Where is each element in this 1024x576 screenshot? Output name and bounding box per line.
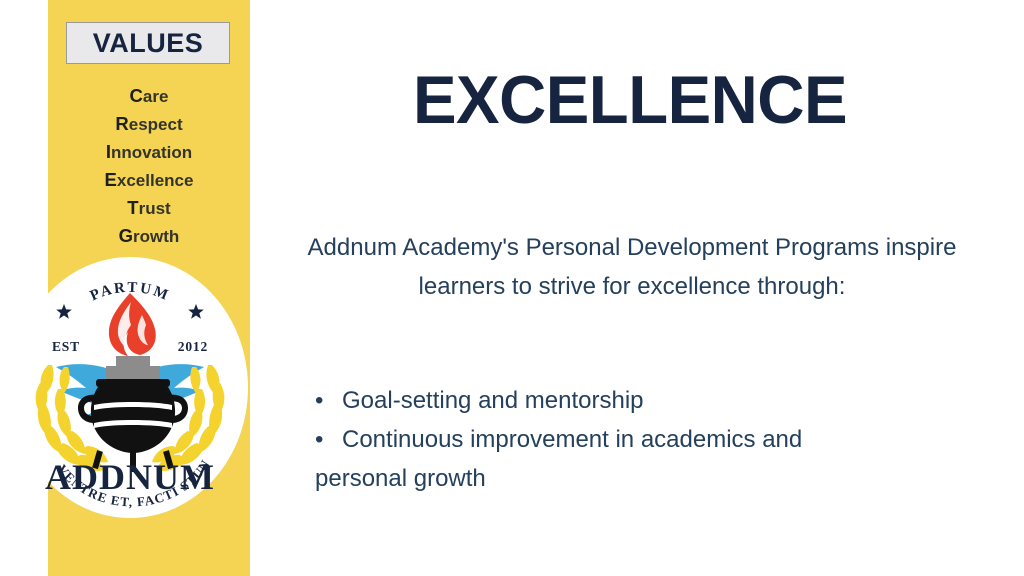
value-initial: G xyxy=(119,225,133,246)
value-remainder: are xyxy=(143,87,169,106)
slide-canvas: VALUES Care Respect Innovation Excellenc… xyxy=(0,0,1024,576)
list-item-wrap-line: personal growth xyxy=(315,459,975,498)
values-list: Care Respect Innovation Excellence Trust… xyxy=(48,82,250,250)
page-title: EXCELLENCE xyxy=(294,66,966,134)
value-remainder: rust xyxy=(139,199,171,218)
value-item-excellence: Excellence xyxy=(48,166,250,194)
values-header-box: VALUES xyxy=(66,22,230,64)
intro-paragraph: Addnum Academy's Personal Development Pr… xyxy=(302,228,962,306)
bullet-marker-icon: • xyxy=(315,381,342,420)
value-remainder: rowth xyxy=(133,227,179,246)
plinth-icon xyxy=(106,356,160,379)
slide-content: EXCELLENCE Addnum Academy's Personal Dev… xyxy=(280,0,1024,576)
list-item-label: Continuous improvement in academics and xyxy=(342,426,802,453)
value-initial: T xyxy=(127,197,138,218)
value-item-trust: Trust xyxy=(48,194,250,222)
star-icon-left xyxy=(56,304,72,319)
value-remainder: nnovation xyxy=(111,143,192,162)
list-item: •Continuous improvement in academics and xyxy=(315,420,975,459)
addnum-logo-artwork: PARTUM EST 2012 xyxy=(12,257,248,518)
value-item-innovation: Innovation xyxy=(48,138,250,166)
value-remainder: xcellence xyxy=(117,171,194,190)
addnum-logo: PARTUM EST 2012 xyxy=(12,257,248,518)
values-header-label: VALUES xyxy=(93,30,204,57)
list-item: •Goal-setting and mentorship xyxy=(315,381,975,420)
star-icon-right xyxy=(188,304,204,319)
value-remainder: espect xyxy=(129,115,183,134)
logo-established-label: EST xyxy=(52,339,80,354)
value-initial: C xyxy=(130,85,143,106)
bullet-list: •Goal-setting and mentorship •Continuous… xyxy=(315,381,975,498)
list-item-label: Goal-setting and mentorship xyxy=(342,387,644,414)
value-item-respect: Respect xyxy=(48,110,250,138)
value-initial: E xyxy=(105,169,117,190)
value-initial: R xyxy=(115,113,128,134)
value-item-care: Care xyxy=(48,82,250,110)
bullet-marker-icon: • xyxy=(315,420,342,459)
value-item-growth: Growth xyxy=(48,222,250,250)
flame-icon xyxy=(109,293,156,356)
logo-established-year: 2012 xyxy=(178,339,208,354)
